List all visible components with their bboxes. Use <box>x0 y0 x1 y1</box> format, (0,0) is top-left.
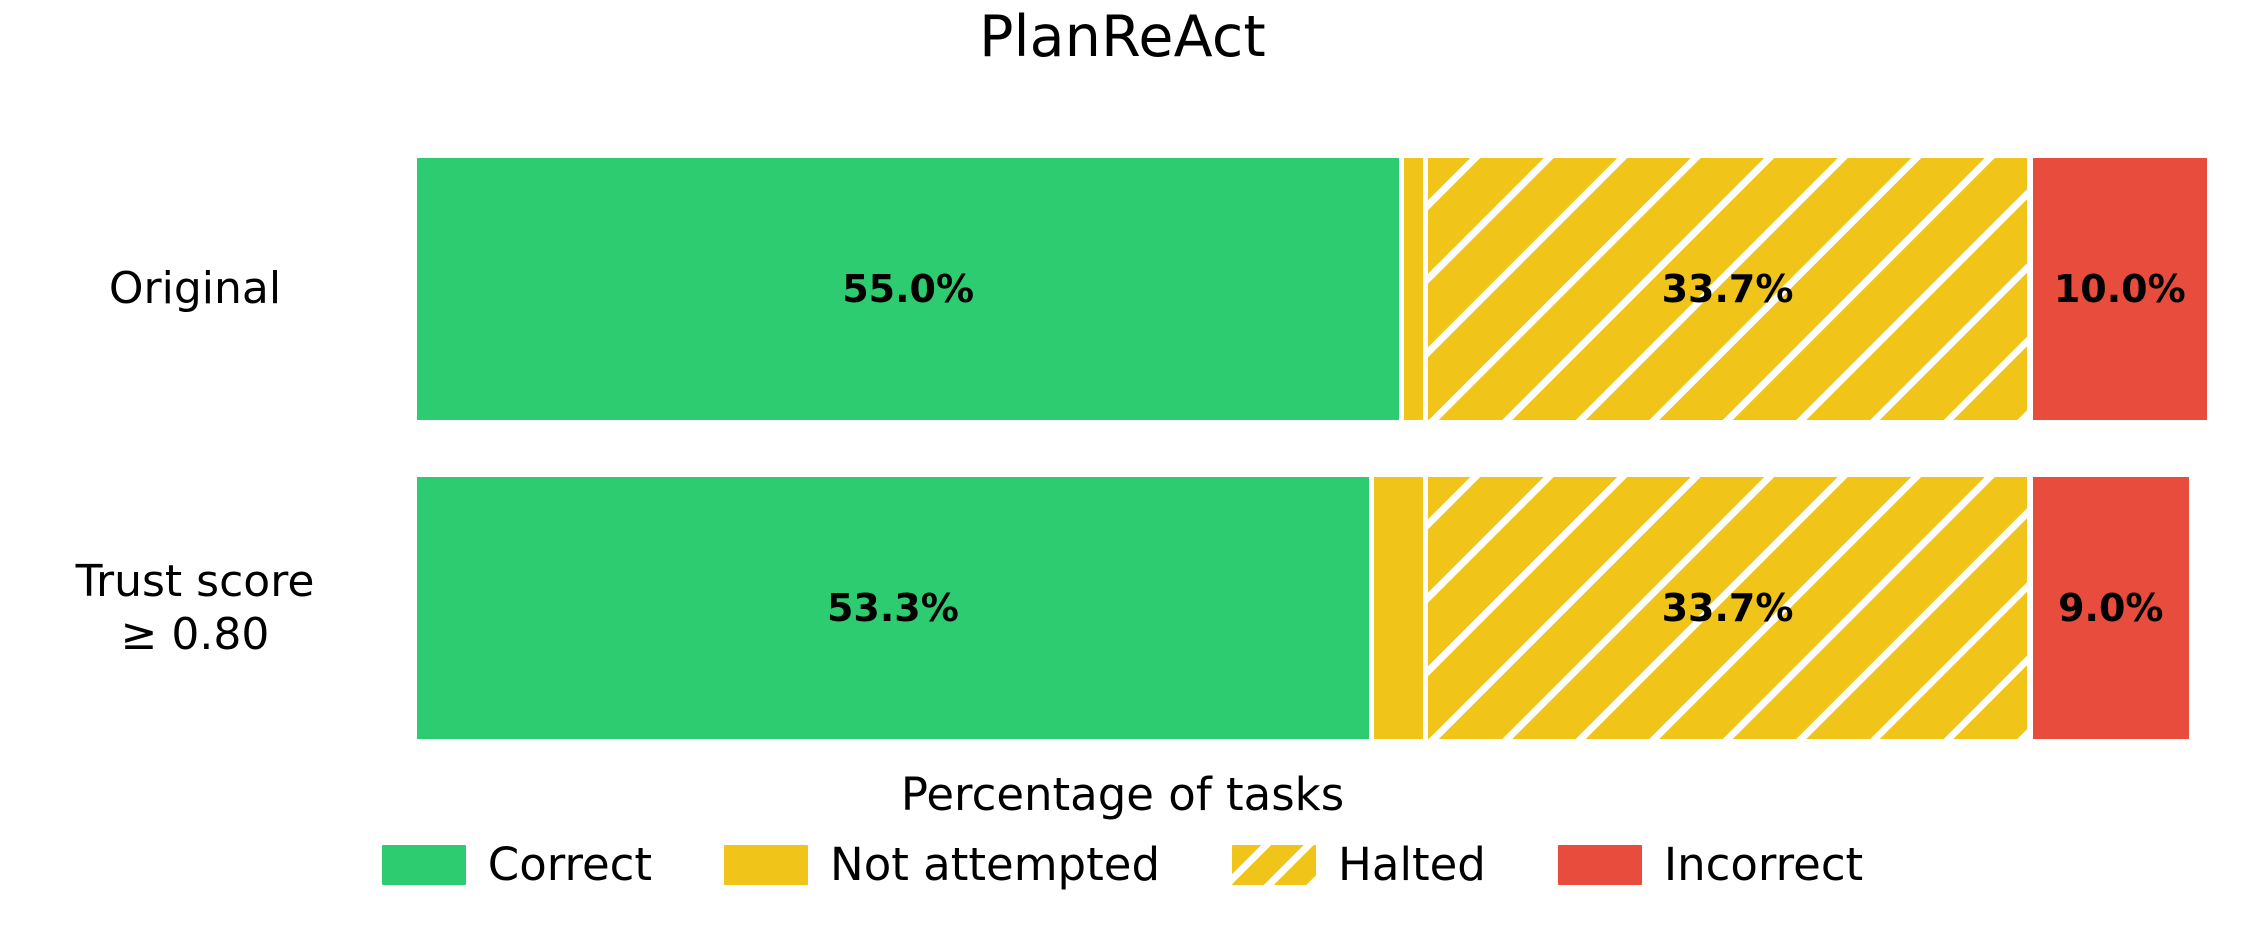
bar-segment-value-label: 55.0% <box>417 267 1399 311</box>
bar-segment-halted: 33.7% <box>1428 477 2028 739</box>
y-tick-label-1: Trust score ≥ 0.80 <box>0 555 390 662</box>
bar-segment-halted: 33.7% <box>1428 158 2028 420</box>
legend-swatch-icon <box>1558 845 1642 885</box>
bar-segment-not-attempted <box>1374 477 1423 739</box>
legend-swatch-icon <box>724 845 808 885</box>
chart-legend: CorrectNot attemptedHaltedIncorrect <box>0 838 2245 891</box>
y-tick-label-0: Original <box>0 262 390 316</box>
legend-item-halted[interactable]: Halted <box>1232 838 1486 891</box>
legend-label: Correct <box>488 838 652 891</box>
bar-segment-value-label: 53.3% <box>417 586 1369 630</box>
bar-segment-value-label: 10.0% <box>2033 267 2208 311</box>
legend-swatch-icon <box>382 845 466 885</box>
bar-segment-correct: 55.0% <box>417 158 1399 420</box>
legend-item-not-attempted[interactable]: Not attempted <box>724 838 1160 891</box>
bar-segment-correct: 53.3% <box>417 477 1369 739</box>
legend-item-incorrect[interactable]: Incorrect <box>1558 838 1863 891</box>
x-axis-label: Percentage of tasks <box>0 768 2245 821</box>
bar-segment-value-label: 33.7% <box>1428 267 2028 311</box>
bar-segment-value-label: 9.0% <box>2033 586 2190 630</box>
bar-segment-incorrect: 9.0% <box>2033 477 2190 739</box>
legend-label: Not attempted <box>830 838 1160 891</box>
bar-segment-not-attempted <box>1404 158 1422 420</box>
bar-segment-incorrect: 10.0% <box>2033 158 2208 420</box>
legend-swatch-icon <box>1232 845 1316 885</box>
legend-item-correct[interactable]: Correct <box>382 838 652 891</box>
bar-row: 53.3%33.7%9.0% <box>417 477 2212 739</box>
legend-label: Incorrect <box>1664 838 1863 891</box>
legend-label: Halted <box>1338 838 1486 891</box>
bar-row: 55.0%33.7%10.0% <box>417 158 2212 420</box>
chart-figure: PlanReAct OriginalTrust score ≥ 0.80 55.… <box>0 0 2245 939</box>
bar-segment-value-label: 33.7% <box>1428 586 2028 630</box>
